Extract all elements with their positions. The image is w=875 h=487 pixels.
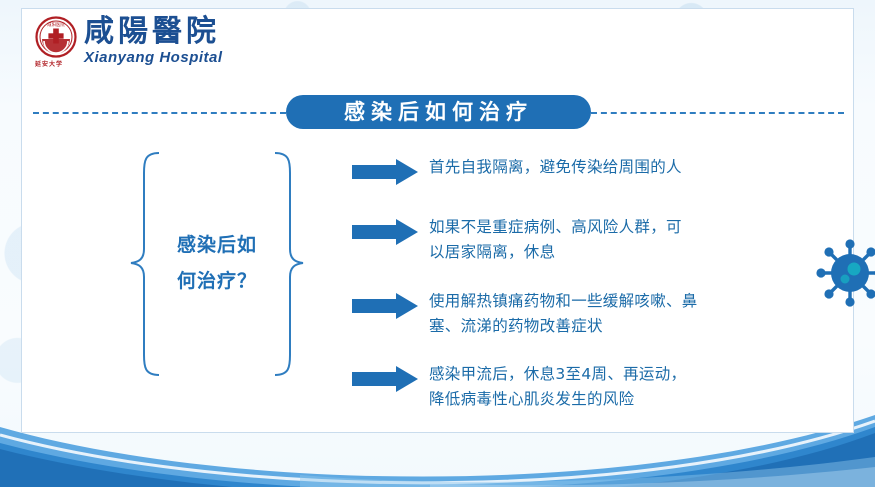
right-arrow-icon (352, 159, 418, 185)
list-item-line: 感染甲流后，休息3至4周、再运动， (429, 362, 752, 387)
hospital-name-en: Xianyang Hospital (84, 49, 223, 67)
content-card: 咸阳医院 延安大学 咸陽醫院 Xianyang Hospital 感染后如何治疗… (21, 8, 854, 433)
hospital-logo: 咸阳医院 延安大学 咸陽醫院 Xianyang Hospital (32, 15, 223, 67)
list-item-line: 塞、流涕的药物改善症状 (429, 314, 752, 339)
list-item-line: 降低病毒性心肌炎发生的风险 (429, 387, 752, 412)
brace-group: 感染后如 何治疗？ (117, 149, 317, 379)
right-arrow-icon (352, 219, 418, 245)
brace-label-line2: 何治疗？ (151, 263, 283, 299)
dashed-line-left (33, 112, 286, 114)
right-arrow-icon (352, 293, 418, 319)
list-item-text: 使用解热镇痛药物和一些缓解咳嗽、鼻 塞、流涕的药物改善症状 (429, 289, 752, 339)
bullet-list: 首先自我隔离，避免传染给周围的人 如果不是重症病例、高风险人群，可 以居家隔离，… (352, 155, 752, 430)
right-arrow-icon (352, 366, 418, 392)
page-title: 感染后如何治疗 (286, 95, 591, 129)
slide-root: 咸阳医院 延安大学 咸陽醫院 Xianyang Hospital 感染后如何治疗… (0, 0, 875, 487)
brace-label: 感染后如 何治疗？ (151, 227, 283, 299)
list-item: 如果不是重症病例、高风险人群，可 以居家隔离，休息 (352, 215, 752, 265)
list-item-line: 以居家隔离，休息 (429, 240, 752, 265)
list-item-line: 首先自我隔离，避免传染给周围的人 (429, 155, 752, 180)
emblem-subtitle: 延安大学 (35, 59, 63, 68)
virus-icon (815, 238, 875, 308)
list-item: 感染甲流后，休息3至4周、再运动， 降低病毒性心肌炎发生的风险 (352, 362, 752, 412)
dashed-line-right (591, 112, 844, 114)
list-item-text: 首先自我隔离，避免传染给周围的人 (429, 155, 752, 180)
svg-text:咸阳医院: 咸阳医院 (47, 21, 65, 28)
brace-label-line1: 感染后如 (151, 227, 283, 263)
list-item-line: 如果不是重症病例、高风险人群，可 (429, 215, 752, 240)
title-row: 感染后如何治疗 (22, 94, 855, 130)
list-item-line: 使用解热镇痛药物和一些缓解咳嗽、鼻 (429, 289, 752, 314)
list-item: 使用解热镇痛药物和一些缓解咳嗽、鼻 塞、流涕的药物改善症状 (352, 289, 752, 339)
list-item-text: 如果不是重症病例、高风险人群，可 以居家隔离，休息 (429, 215, 752, 265)
list-item: 首先自我隔离，避免传染给周围的人 (352, 155, 752, 185)
list-item-text: 感染甲流后，休息3至4周、再运动， 降低病毒性心肌炎发生的风险 (429, 362, 752, 412)
hospital-name-cn: 咸陽醫院 (84, 16, 223, 48)
hospital-emblem-icon: 咸阳医院 延安大学 (32, 15, 80, 67)
